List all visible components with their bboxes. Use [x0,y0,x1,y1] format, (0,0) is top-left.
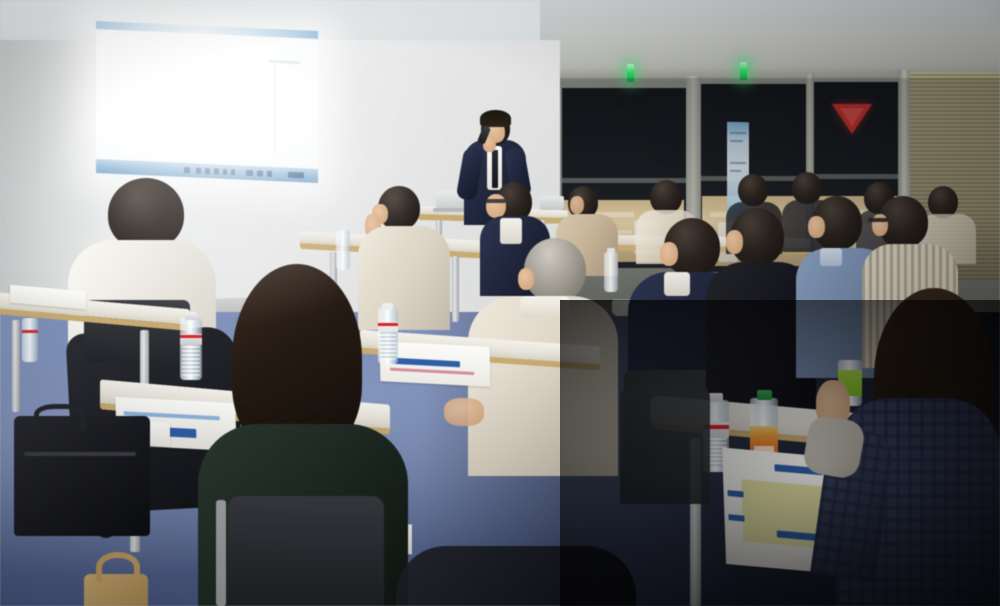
water-bottle-1 [180,318,202,380]
exit-light-left-icon [627,64,634,82]
tote-bag-handle [96,552,140,582]
handout-fr-band-4 [728,514,744,521]
attendee-beige-jacket-woman-face [570,196,584,214]
attendee-back-row-left-head [650,180,682,214]
water-bottle-6 [22,318,38,362]
chair-back-foreground-right [620,384,710,504]
water-bottle-cap-1 [185,312,197,320]
taskbar-mail-icon [214,168,219,174]
laptop-bag-handle [34,404,86,430]
slide-divider [274,66,275,152]
attendee-grey-hair-ear [518,268,534,290]
attendee-foreground-crop [396,546,636,606]
taskbar-volume-icon [267,171,272,177]
taskbar-clock-icon [288,172,304,179]
slide-faint-text [269,60,300,64]
taskbar-media-icon [246,170,253,176]
presenter-hair [480,110,511,127]
attendee-navy-suit-front-collar [664,272,690,296]
attendee-navy-suit-glasses-face [486,194,506,218]
attendee-blue-shirt-face [808,216,825,238]
water-bottle-4 [604,252,618,292]
attendee-blue-shirt-collar [820,248,842,266]
attendee-dark-suit-center-face [726,230,743,254]
attendee-cream-shirt-body [358,226,450,330]
tea-bottle-cap [757,390,772,400]
seminar-room-photo [0,0,1000,606]
front-left-table-leg-1 [12,320,20,412]
laptop-bag [14,416,150,536]
attendee-navy-suit-glasses-collar [500,218,522,244]
taskbar-browser-icon [205,168,210,174]
projector-unit [540,196,564,210]
chair-back-foreground-left [228,496,384,606]
glass-transom-right [812,174,908,179]
slide-content [96,29,318,169]
taskbar-chart-icon [231,169,235,175]
chair-frame-foreground-left [216,500,226,606]
water-bottle-3 [336,230,350,270]
handout-band-center [390,358,460,368]
taskbar-doc-icon [223,169,227,175]
attendee-grey-hair-collar [520,296,570,318]
center-table-leg-right [452,256,459,322]
taskbar-start-icon [184,167,190,173]
laptop-bag-zip [24,452,136,456]
attendee-grey-hair-body [468,296,618,476]
attendee-grey-hair-hand [444,398,484,426]
exit-light-right-icon [740,62,747,80]
taskbar-network-icon [257,170,263,176]
handout-fr-band-3 [727,490,743,497]
handout-line-center [390,368,474,375]
attendee-grey-hair-head [524,238,586,302]
water-bottle-cap-front-right [709,393,723,402]
glasses-icon-2 [868,218,888,222]
projection-screen [96,21,318,183]
fire-escape-triangle-inner-icon [840,108,864,126]
attendee-navy-suit-front-face [660,242,678,266]
presenter-tie [492,150,498,188]
taskbar-folder-icon [196,168,201,174]
water-bottle-2 [378,308,398,364]
glasses-icon [484,199,506,203]
